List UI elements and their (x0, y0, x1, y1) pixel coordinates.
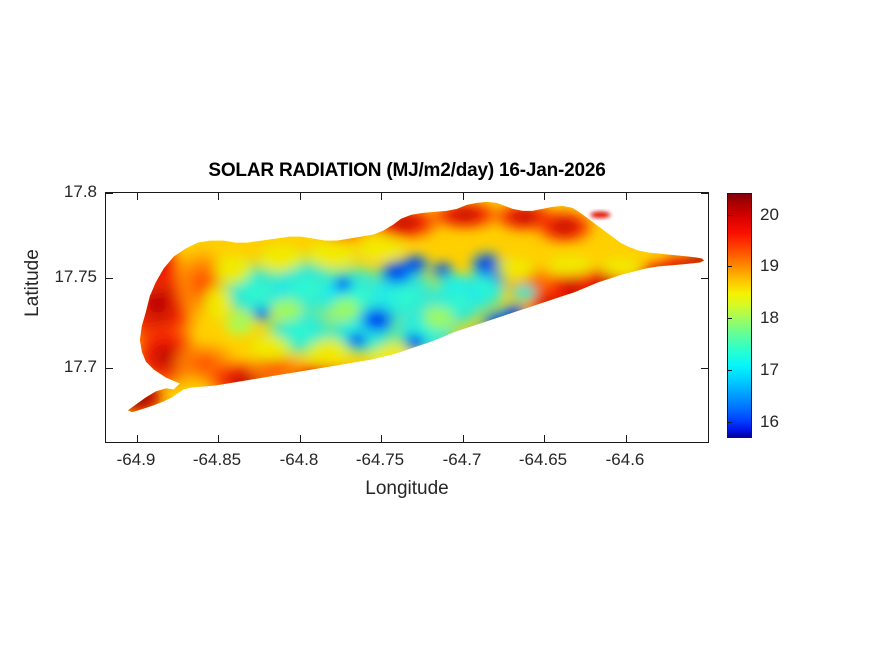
ytick-label-2: 17.75 (41, 267, 97, 287)
xtick-label-4: -64.75 (356, 450, 404, 470)
xtick-label-2: -64.85 (193, 450, 241, 470)
colorbar-label-17: 17 (760, 360, 779, 380)
xtick-label-7: -64.6 (606, 450, 645, 470)
ytick-right-3 (701, 368, 708, 369)
xtick-top-6 (544, 193, 545, 200)
colorbar-tick-16 (727, 422, 732, 423)
solar-radiation-heatmap (106, 193, 708, 442)
xtick-bottom-3 (300, 435, 301, 442)
xtick-top-7 (626, 193, 627, 200)
colorbar-label-19: 19 (760, 256, 779, 276)
xtick-bottom-5 (463, 435, 464, 442)
xtick-bottom-1 (137, 435, 138, 442)
xtick-bottom-4 (381, 435, 382, 442)
xtick-label-3: -64.8 (280, 450, 319, 470)
xtick-bottom-6 (544, 435, 545, 442)
map-axes[interactable] (105, 192, 709, 443)
ytick-label-3: 17.7 (41, 357, 97, 377)
xtick-top-1 (137, 193, 138, 200)
colorbar-tick-20 (727, 215, 732, 216)
xtick-top-3 (300, 193, 301, 200)
colorbar[interactable] (727, 193, 752, 438)
xtick-label-1: -64.9 (117, 450, 156, 470)
xtick-top-2 (218, 193, 219, 200)
colorbar-tick-17 (727, 370, 732, 371)
x-axis-label: Longitude (105, 478, 709, 500)
colorbar-tick-19 (727, 266, 732, 267)
xtick-top-5 (463, 193, 464, 200)
y-axis-label: Latitude (22, 213, 44, 353)
page-title: SOLAR RADIATION (MJ/m2/day) 16-Jan-2026 (105, 160, 709, 182)
xtick-top-4 (381, 193, 382, 200)
xtick-bottom-2 (218, 435, 219, 442)
xtick-label-5: -64.7 (443, 450, 482, 470)
ytick-right-2 (701, 278, 708, 279)
ytick-left-3 (106, 368, 113, 369)
ytick-left-2 (106, 278, 113, 279)
colorbar-tick-18 (727, 318, 732, 319)
offshore-islet (590, 212, 610, 218)
ytick-label-1: 17.8 (41, 182, 97, 202)
colorbar-label-20: 20 (760, 205, 779, 225)
colorbar-label-18: 18 (760, 308, 779, 328)
heatmap-raster (106, 193, 708, 442)
xtick-bottom-7 (626, 435, 627, 442)
colorbar-label-16: 16 (760, 412, 779, 432)
ytick-right-1 (701, 193, 708, 194)
ytick-left-1 (106, 193, 113, 194)
figure-canvas: SOLAR RADIATION (MJ/m2/day) 16-Jan-2026 (0, 0, 875, 656)
xtick-label-6: -64.65 (519, 450, 567, 470)
